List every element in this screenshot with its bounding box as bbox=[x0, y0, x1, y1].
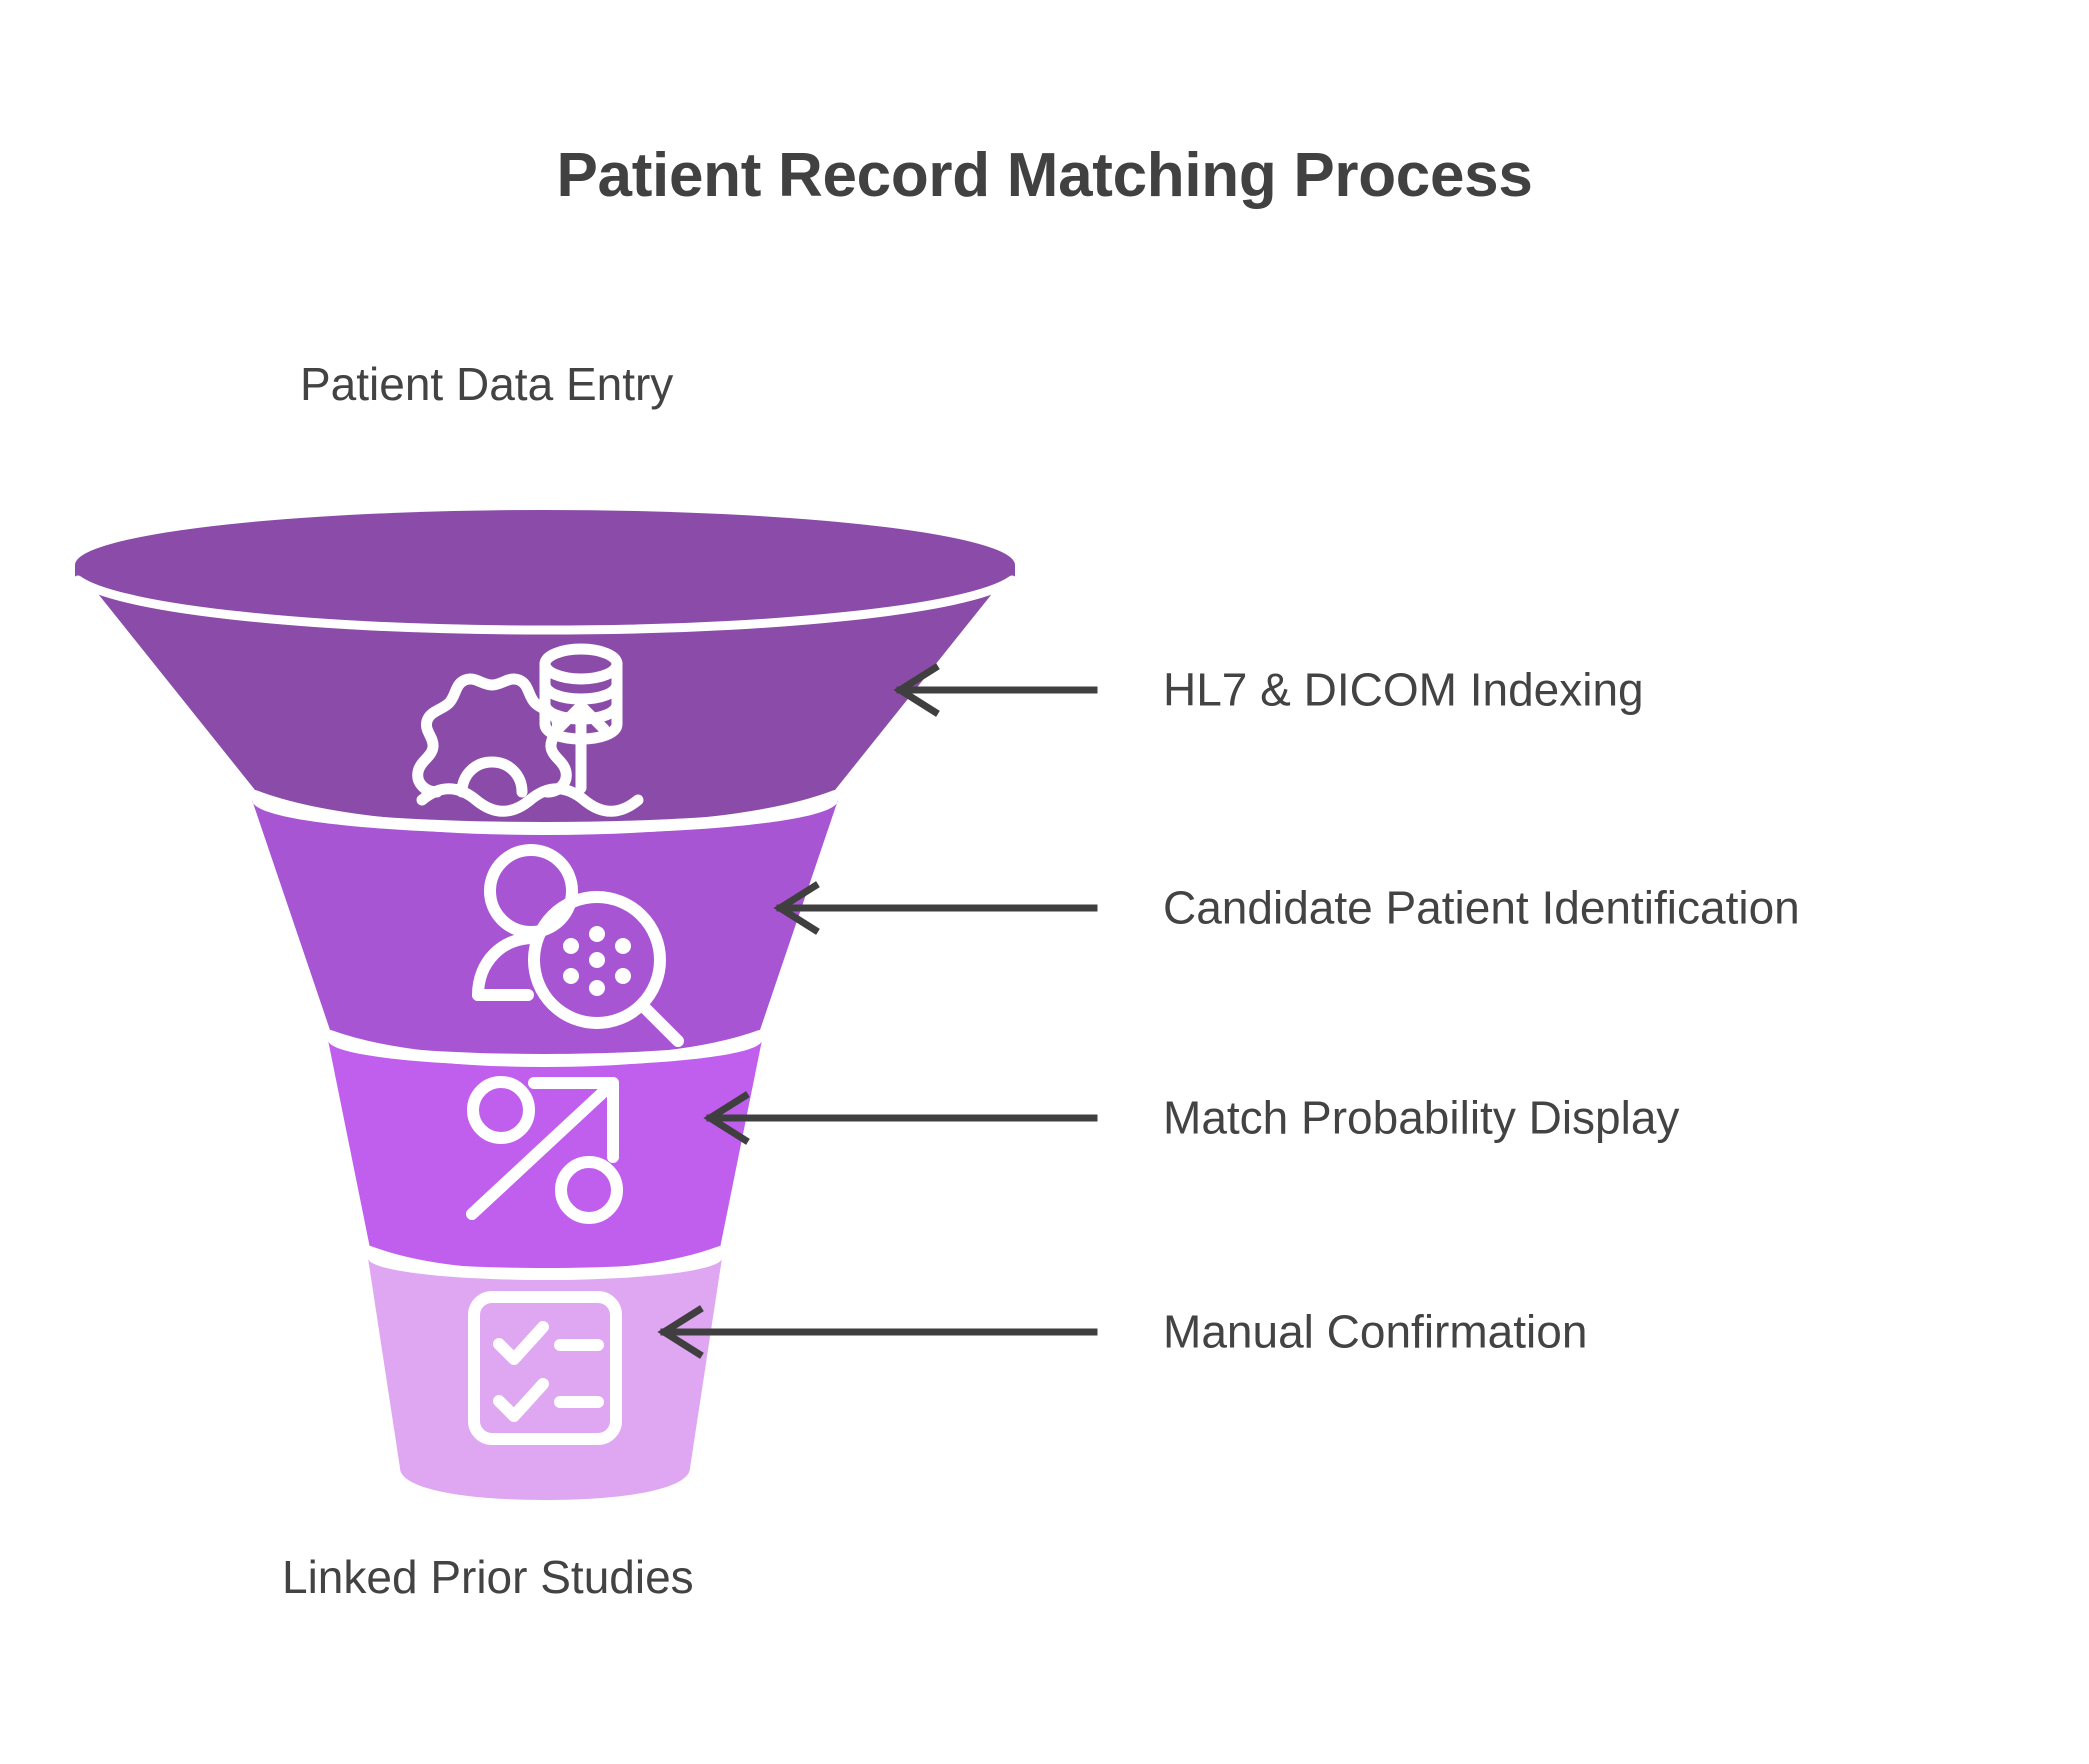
stage-label-1[interactable]: HL7 & DICOM Indexing bbox=[1163, 664, 1644, 717]
connector-arrow-2 bbox=[780, 886, 1094, 930]
stage-label-4[interactable]: Manual Confirmation bbox=[1163, 1306, 1587, 1359]
connector-arrow-3 bbox=[710, 1096, 1094, 1140]
connector-arrow-1 bbox=[900, 668, 1094, 712]
connector-arrow-4 bbox=[664, 1310, 1094, 1354]
stage-label-3[interactable]: Match Probability Display bbox=[1163, 1092, 1679, 1145]
diagram-canvas: Patient Record Matching Process Patient … bbox=[0, 0, 2089, 1764]
stage-label-2[interactable]: Candidate Patient Identification bbox=[1163, 882, 1800, 935]
